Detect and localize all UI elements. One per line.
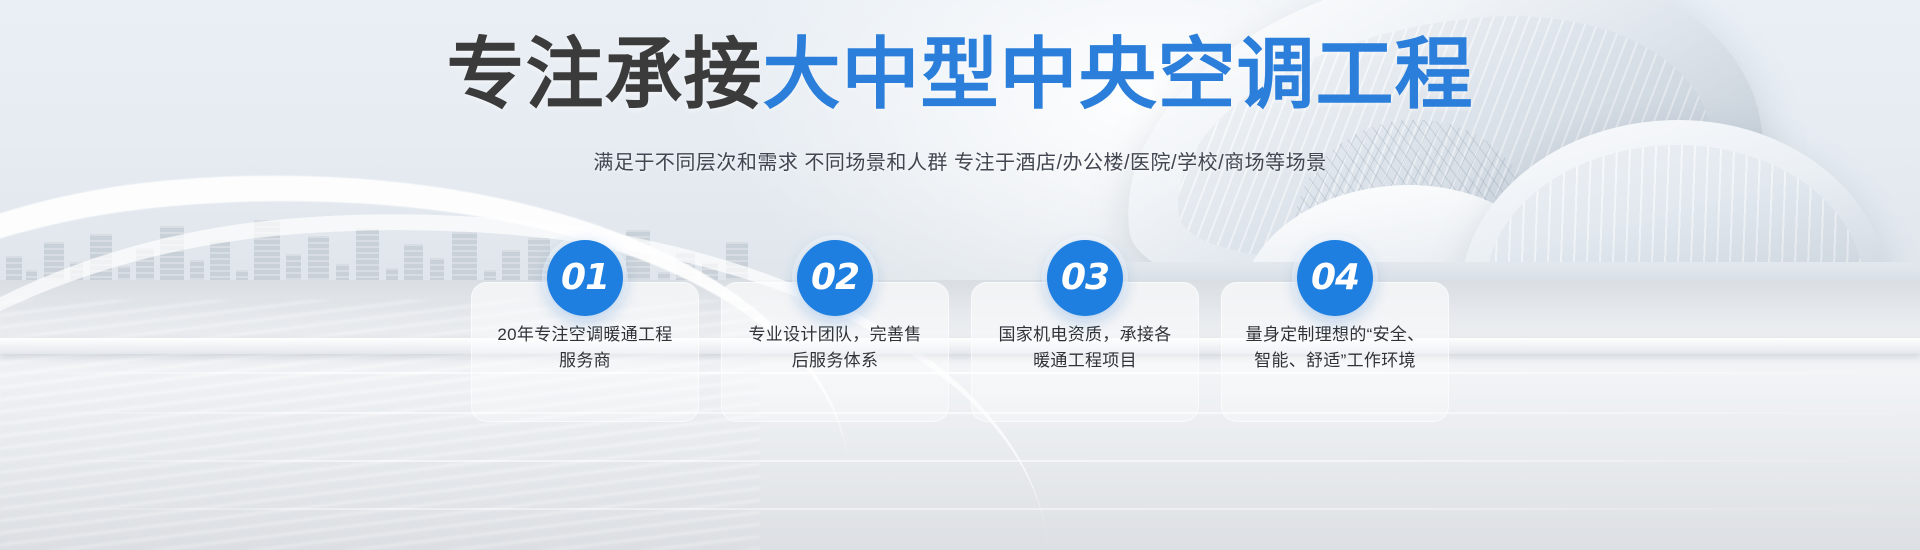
headline-dark-text: 专注承接 (446, 30, 762, 120)
feature-card-text: 国家机电资质，承接各暖通工程项目 (992, 322, 1178, 375)
hero-banner: 专注承接大中型中央空调工程 满足于不同层次和需求 不同场景和人群 专注于酒店/办… (0, 0, 1920, 550)
badge-number-circle: 01 (547, 240, 623, 316)
badge-number: 01 (561, 260, 609, 296)
badge-number: 03 (1061, 260, 1109, 296)
feature-card[interactable]: 03 国家机电资质，承接各暖通工程项目 (971, 282, 1199, 422)
feature-card-text: 量身定制理想的“安全、智能、舒适”工作环境 (1242, 322, 1428, 375)
badge-number-circle: 03 (1047, 240, 1123, 316)
feature-card[interactable]: 04 量身定制理想的“安全、智能、舒适”工作环境 (1221, 282, 1449, 422)
headline-blue-text: 大中型中央空调工程 (763, 30, 1474, 120)
badge-number: 02 (811, 260, 859, 296)
badge-number: 04 (1311, 260, 1359, 296)
badge-number-circle: 04 (1297, 240, 1373, 316)
feature-card[interactable]: 02 专业设计团队，完善售后服务体系 (721, 282, 949, 422)
feature-card[interactable]: 01 20年专注空调暖通工程服务商 (471, 282, 699, 422)
feature-card-text: 20年专注空调暖通工程服务商 (492, 322, 678, 375)
page-title: 专注承接大中型中央空调工程 (0, 36, 1920, 114)
feature-card-list: 01 20年专注空调暖通工程服务商 02 专业设计团队，完善售后服务体系 03 … (0, 282, 1920, 432)
feature-card-text: 专业设计团队，完善售后服务体系 (742, 322, 928, 375)
headline-wrapper: 专注承接大中型中央空调工程 (0, 36, 1920, 114)
page-subtitle: 满足于不同层次和需求 不同场景和人群 专注于酒店/办公楼/医院/学校/商场等场景 (0, 146, 1920, 175)
badge-number-circle: 02 (797, 240, 873, 316)
